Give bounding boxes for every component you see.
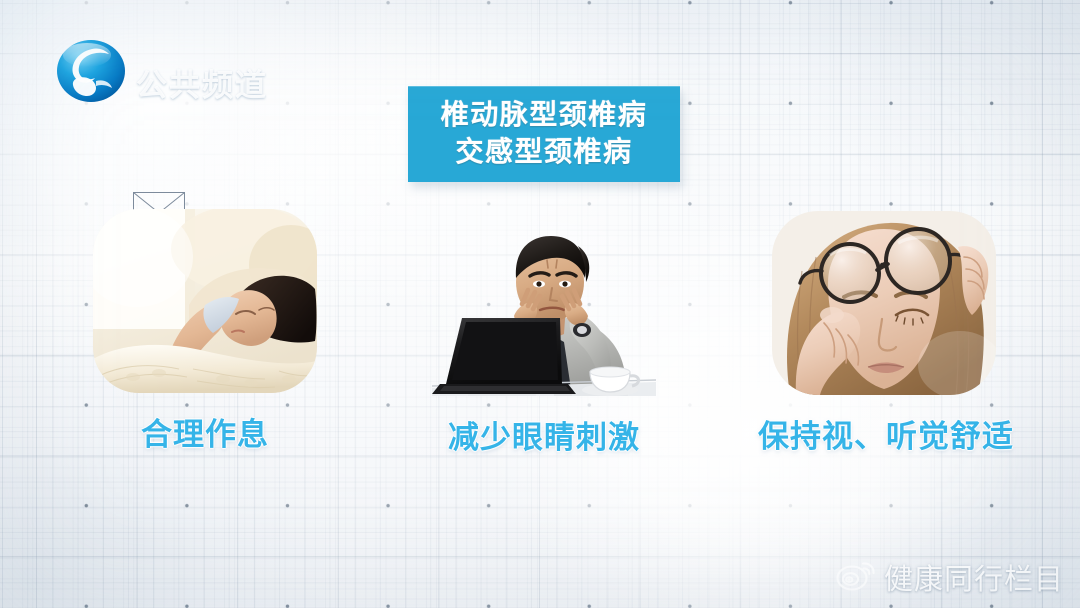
card-caption-eyestrain: 减少眼睛刺激 [432,412,656,457]
globe-swoosh-logo-icon [54,38,128,108]
card-caption-comfort: 保持视、听觉舒适 [758,411,1010,456]
woman-rubbing-tired-eye-photo [772,211,996,395]
watermark-text: 健康同行栏目 [884,556,1064,598]
stressed-businessman-at-laptop-photo [432,212,656,396]
info-card-eyestrain: 减少眼睛刺激 [432,212,656,396]
title-banner-line-2: 交感型颈椎病 [408,133,680,170]
card-caption-sleep: 合理作息 [93,409,317,454]
channel-logo-text: 公共频道 [136,60,268,105]
watermark: 健康同行栏目 [836,556,1064,598]
title-banner-line-1: 椎动脉型颈椎病 [408,96,680,133]
info-card-comfort: 保持视、听觉舒适 [772,211,996,395]
channel-logo: 公共频道 [54,38,268,108]
weibo-icon [836,558,876,596]
woman-sleeping-in-bed-photo [93,209,317,393]
info-card-sleep: 合理作息 [93,209,317,393]
title-banner: 椎动脉型颈椎病 交感型颈椎病 [408,86,680,182]
broadcast-frame: 公共频道 椎动脉型颈椎病 交感型颈椎病 [0,0,1080,608]
